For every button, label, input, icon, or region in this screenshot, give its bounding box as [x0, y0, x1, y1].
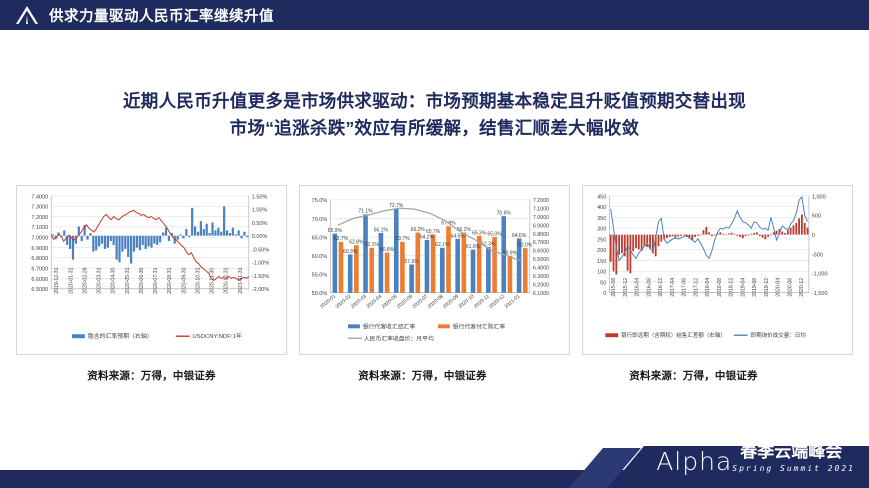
svg-text:-1.50%: -1.50% [252, 274, 270, 280]
svg-text:60.3%: 60.3% [343, 249, 358, 255]
page-title: 供求力量驱动人民币汇率继续升值 [49, 5, 274, 26]
svg-text:0: 0 [812, 233, 815, 239]
svg-text:65.9%: 65.9% [328, 228, 343, 234]
svg-text:50.0%: 50.0% [312, 291, 328, 297]
svg-text:64.5%: 64.5% [451, 233, 466, 239]
svg-text:300: 300 [597, 227, 606, 233]
svg-text:2019-08: 2019-08 [752, 278, 758, 297]
brand-en-text: Spring Summit 2021 [732, 464, 855, 474]
svg-text:6.4000: 6.4000 [533, 266, 549, 272]
svg-text:即期询价成交量：日均: 即期询价成交量：日均 [751, 331, 807, 339]
svg-text:2020-08: 2020-08 [427, 293, 445, 310]
svg-text:-2.00%: -2.00% [252, 287, 270, 293]
svg-text:2016-08: 2016-08 [646, 278, 652, 297]
svg-text:2020-11: 2020-11 [473, 293, 491, 309]
svg-text:64.2%: 64.2% [420, 234, 435, 240]
svg-text:2016-12: 2016-12 [658, 278, 664, 297]
svg-text:银行代客付汇购汇率: 银行代客付汇购汇率 [453, 322, 506, 330]
svg-text:2016-04: 2016-04 [635, 278, 641, 297]
svg-text:0.50%: 0.50% [252, 221, 268, 227]
svg-text:2019-04: 2019-04 [740, 278, 746, 297]
svg-text:2020-10: 2020-10 [457, 293, 475, 310]
svg-text:7.1000: 7.1000 [533, 206, 549, 212]
svg-text:57.6%: 57.6% [404, 259, 419, 265]
svg-text:2020-02-29: 2020-02-29 [82, 267, 88, 293]
svg-text:60.0%: 60.0% [312, 254, 328, 260]
svg-text:2020-11-30: 2020-11-30 [210, 268, 216, 294]
svg-text:55.0%: 55.0% [312, 273, 328, 279]
svg-text:6.8000: 6.8000 [31, 256, 48, 262]
svg-text:7.0000: 7.0000 [533, 215, 549, 221]
svg-text:62.0%: 62.0% [518, 243, 533, 249]
svg-text:2020-07: 2020-07 [411, 293, 429, 310]
svg-text:65.7%: 65.7% [426, 229, 441, 235]
brand-alpha-text: Alpha [656, 449, 732, 474]
svg-text:66.2%: 66.2% [411, 227, 426, 233]
svg-text:63.7%: 63.7% [334, 236, 349, 242]
brand-lockup: Alpha 春季云端峰会 Spring Summit 2021 [656, 442, 855, 474]
svg-text:2020-06: 2020-06 [396, 293, 414, 310]
svg-text:2020-12: 2020-12 [799, 278, 805, 297]
svg-text:2020-12-31: 2020-12-31 [224, 267, 230, 293]
svg-text:2021-01-31: 2021-01-31 [238, 267, 244, 293]
source-note-1: 资料来源：万得，中银证券 [87, 370, 215, 382]
svg-text:2020-04: 2020-04 [776, 278, 782, 297]
svg-text:2017-12: 2017-12 [693, 278, 699, 297]
brand-right-block: 春季云端峰会 Spring Summit 2021 [732, 442, 855, 474]
chart-3-svg: 050100150200250300350400450-1,500-1,000-… [583, 186, 852, 354]
svg-text:7.2000: 7.2000 [31, 215, 48, 221]
brand-cn-text: 春季云端峰会 [740, 442, 842, 462]
svg-text:0: 0 [603, 291, 606, 297]
subtitle-line-2: 市场“追涨杀跌”效应有所缓解，结售汇顺差大幅收敛 [0, 115, 869, 142]
source-cell-1: 资料来源：万得，中银证券 [16, 366, 287, 386]
svg-text:2020-05: 2020-05 [381, 293, 399, 310]
svg-text:2019-12-31: 2019-12-31 [54, 267, 60, 293]
subtitle-line-1: 近期人民币升值更多是市场供求驱动：市场预期基本稳定且升贬值预期交替出现 [0, 88, 869, 115]
footer-brand: Alpha 春季云端峰会 Spring Summit 2021 [569, 428, 869, 488]
svg-text:2020-08: 2020-08 [787, 278, 793, 297]
svg-text:63.7%: 63.7% [395, 236, 410, 242]
svg-text:6.5000: 6.5000 [31, 287, 48, 293]
svg-text:-1,500: -1,500 [812, 291, 828, 297]
svg-text:2020-03: 2020-03 [350, 293, 368, 310]
svg-text:2019-12: 2019-12 [764, 278, 770, 297]
svg-text:62.1%: 62.1% [365, 242, 380, 248]
svg-text:350: 350 [597, 216, 606, 222]
svg-text:2020-04: 2020-04 [365, 293, 383, 310]
mountain-a-logo-icon [14, 4, 40, 26]
svg-text:2018-12: 2018-12 [729, 278, 735, 297]
svg-text:64.6%: 64.6% [512, 233, 527, 239]
svg-text:6.9000: 6.9000 [31, 246, 48, 252]
svg-text:USDCNY:NDF:1年: USDCNY:NDF:1年 [193, 332, 242, 340]
svg-text:65.3%: 65.3% [472, 230, 487, 236]
svg-text:-1.00%: -1.00% [252, 261, 270, 267]
svg-text:2020-08-31: 2020-08-31 [167, 267, 173, 293]
sources-row: 资料来源：万得，中银证券 资料来源：万得，中银证券 资料来源：万得，中银证券 [0, 366, 869, 386]
svg-text:2020-10-31: 2020-10-31 [195, 267, 201, 293]
svg-text:2021-01: 2021-01 [503, 293, 521, 310]
svg-text:2020-04-30: 2020-04-30 [111, 267, 117, 293]
svg-text:6.7000: 6.7000 [31, 267, 48, 273]
svg-text:0.00%: 0.00% [252, 234, 268, 240]
svg-text:1.50%: 1.50% [252, 194, 268, 200]
svg-text:2015-08: 2015-08 [611, 278, 617, 297]
svg-text:2020-07-31: 2020-07-31 [153, 267, 159, 293]
source-cell-3: 资料来源：万得，中银证券 [558, 366, 829, 386]
svg-text:2015-12: 2015-12 [623, 278, 629, 297]
svg-text:100: 100 [597, 270, 606, 276]
svg-text:隐含的汇率预期（右轴）: 隐含的汇率预期（右轴） [88, 332, 153, 340]
source-note-2: 资料来源：万得，中银证券 [358, 370, 486, 382]
slide-subtitle: 近期人民币升值更多是市场供求驱动：市场预期基本稳定且升贬值预期交替出现 市场“追… [0, 88, 869, 142]
source-note-3: 资料来源：万得，中银证券 [629, 370, 757, 382]
charts-row: 6.50006.60006.70006.80006.90007.00007.10… [0, 185, 869, 357]
svg-text:6.5000: 6.5000 [533, 257, 549, 263]
svg-text:7.3000: 7.3000 [31, 205, 48, 211]
svg-text:2020-09-30: 2020-09-30 [181, 267, 187, 293]
chart-card-2: 50.0%55.0%60.0%65.0%70.0%75.0%6.10006.20… [299, 185, 570, 355]
svg-text:7.2000: 7.2000 [533, 198, 549, 204]
svg-text:银行即远期（含期权）结售汇差额（右轴）: 银行即远期（含期权）结售汇差额（右轴） [621, 331, 726, 339]
svg-text:2020-02: 2020-02 [335, 293, 353, 310]
svg-text:6.6000: 6.6000 [31, 277, 48, 283]
svg-text:2020-03-31: 2020-03-31 [97, 267, 103, 293]
svg-text:1,000: 1,000 [812, 194, 826, 200]
svg-text:6.8000: 6.8000 [533, 232, 549, 238]
svg-text:62.1%: 62.1% [435, 242, 450, 248]
svg-text:60.8%: 60.8% [380, 247, 395, 253]
svg-text:66.1%: 66.1% [374, 227, 389, 233]
svg-text:人民币汇率收盘价：月平均: 人民币汇率收盘价：月平均 [364, 334, 434, 342]
app-header: 供求力量驱动人民币汇率继续升值 [0, 0, 869, 30]
svg-text:6.9000: 6.9000 [533, 223, 549, 229]
svg-text:450: 450 [597, 194, 606, 200]
svg-text:-0.50%: -0.50% [252, 247, 270, 253]
svg-text:62.8%: 62.8% [349, 240, 364, 246]
svg-text:7.1000: 7.1000 [31, 225, 48, 231]
svg-text:400: 400 [597, 205, 606, 211]
svg-text:2018-04: 2018-04 [705, 278, 711, 297]
svg-text:2020-05-31: 2020-05-31 [125, 267, 131, 293]
svg-text:200: 200 [597, 248, 606, 254]
svg-text:7.0000: 7.0000 [31, 236, 48, 242]
svg-text:6.1000: 6.1000 [533, 291, 549, 297]
svg-text:50: 50 [600, 280, 606, 286]
svg-text:6.7000: 6.7000 [533, 240, 549, 246]
chart-1-svg: 6.50006.60006.70006.80006.90007.00007.10… [17, 186, 286, 354]
svg-text:2017-08: 2017-08 [682, 278, 688, 297]
svg-text:65.0%: 65.0% [487, 231, 502, 237]
svg-text:银行代客收汇结汇率: 银行代客收汇结汇率 [363, 322, 416, 330]
svg-text:61.6%: 61.6% [466, 244, 481, 250]
svg-text:2020-06-30: 2020-06-30 [139, 267, 145, 293]
svg-text:2020-12: 2020-12 [488, 293, 506, 310]
chart-card-3: 050100150200250300350400450-1,500-1,000-… [582, 185, 853, 355]
svg-text:150: 150 [597, 259, 606, 265]
svg-text:500: 500 [812, 214, 821, 220]
svg-text:70.6%: 70.6% [497, 211, 512, 217]
svg-text:250: 250 [597, 237, 606, 243]
source-cell-2: 资料来源：万得，中银证券 [287, 366, 558, 386]
svg-text:75.0%: 75.0% [312, 198, 328, 204]
svg-text:-1,000: -1,000 [812, 272, 828, 278]
svg-text:2020-09: 2020-09 [442, 293, 460, 310]
svg-text:1.00%: 1.00% [252, 208, 268, 214]
svg-text:62.3%: 62.3% [481, 241, 496, 247]
svg-text:70.0%: 70.0% [312, 217, 328, 223]
svg-text:2018-08: 2018-08 [717, 278, 723, 297]
svg-text:-500: -500 [812, 252, 823, 258]
svg-text:6.6000: 6.6000 [533, 249, 549, 255]
chart-2-svg: 50.0%55.0%60.0%65.0%70.0%75.0%6.10006.20… [300, 186, 569, 354]
svg-text:2020-01-31: 2020-01-31 [68, 267, 74, 293]
svg-text:7.4000: 7.4000 [31, 194, 48, 200]
svg-text:6.3000: 6.3000 [533, 274, 549, 280]
svg-text:2017-04: 2017-04 [670, 278, 676, 297]
chart-card-1: 6.50006.60006.70006.80006.90007.00007.10… [16, 185, 287, 355]
svg-text:65.0%: 65.0% [312, 235, 328, 241]
svg-text:6.2000: 6.2000 [533, 282, 549, 288]
